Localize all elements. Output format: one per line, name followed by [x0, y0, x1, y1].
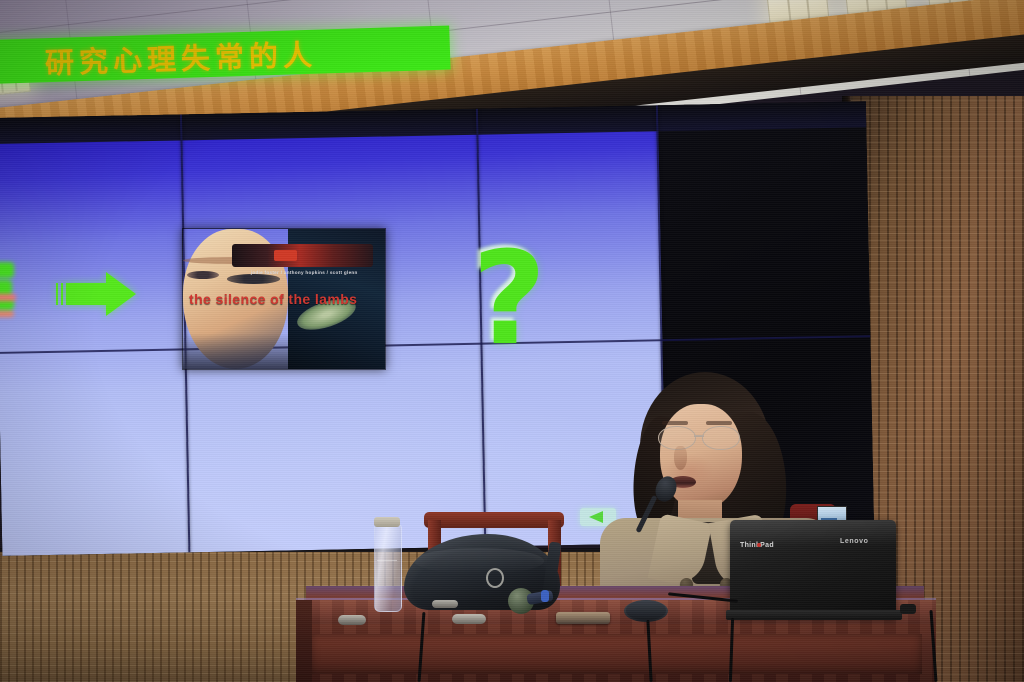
- handheld-microphone-clip: [541, 590, 549, 602]
- movie-poster-image: jodie foster / anthony hopkins / scott g…: [182, 228, 386, 370]
- thinkpad-logo: ThinkPad: [740, 542, 762, 550]
- wooden-chair-top-rail: [424, 512, 564, 528]
- laptop-base: [726, 610, 902, 620]
- question-mark-icon: ?: [472, 236, 546, 364]
- lenovo-logo-text: Lenovo: [840, 538, 869, 545]
- small-metal-object-2: [338, 615, 366, 625]
- eyebrow-right: [706, 421, 732, 425]
- poster-title-text: the silence of the lambs: [189, 291, 379, 307]
- partial-graphic-fragment: [0, 258, 30, 320]
- eyeglasses: [658, 426, 744, 448]
- thinkpad-logo-dot: [757, 543, 761, 547]
- lecture-hall-photo: 研究心理失常的人 jodie foster / anthony hopkins …: [0, 0, 1024, 682]
- water-bottle: [374, 524, 402, 612]
- laptop-port: [900, 604, 916, 614]
- mobile-phone: [556, 612, 610, 624]
- handbag-flap: [414, 548, 544, 574]
- green-right-arrow-icon: [56, 272, 142, 316]
- poster-credits-text: jodie foster / anthony hopkins / scott g…: [231, 270, 376, 275]
- desk-left-side: [296, 600, 312, 682]
- desk-mouse: [626, 600, 666, 620]
- handbag-zipper-pull: [432, 600, 458, 608]
- water-bottle-cap: [374, 517, 400, 527]
- eyebrow-left: [662, 421, 688, 425]
- desk-front-panel: [310, 634, 922, 674]
- water-bottle-waterline: [377, 560, 397, 561]
- nose: [674, 446, 687, 470]
- handbag-ring-buckle: [486, 568, 504, 588]
- small-metal-object: [452, 614, 486, 624]
